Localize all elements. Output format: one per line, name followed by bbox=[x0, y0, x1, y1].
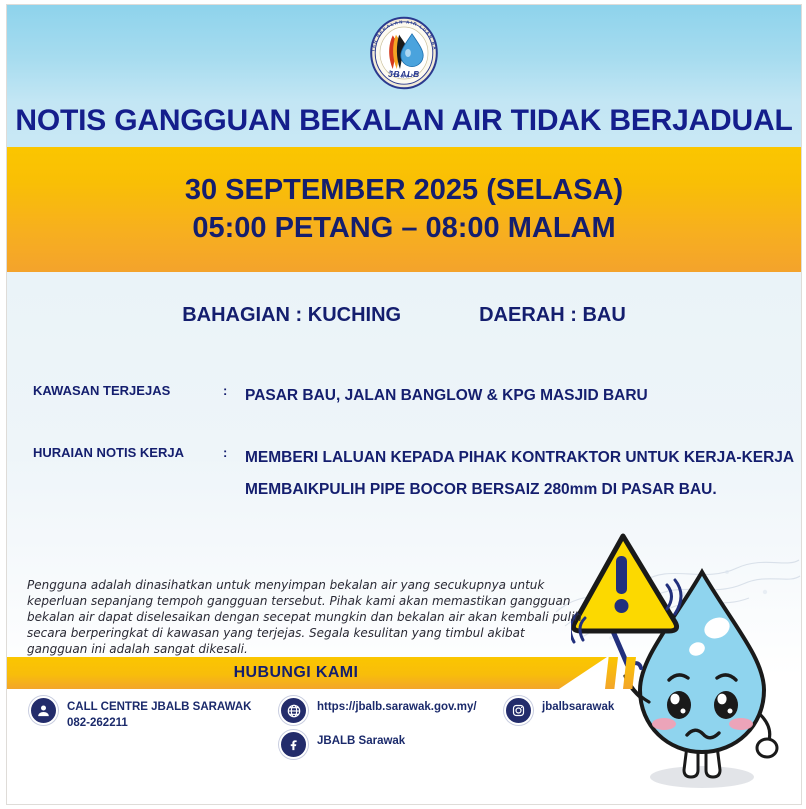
facebook-icon bbox=[279, 730, 308, 759]
contact-banner-body: HUBUNGI KAMI bbox=[7, 657, 607, 689]
call-centre-name: CALL CENTRE JBALB SARAWAK bbox=[67, 701, 251, 713]
contact-banner-title: HUBUNGI KAMI bbox=[234, 664, 381, 682]
contact-website[interactable]: https://jbalb.sarawak.gov.my/ bbox=[279, 696, 477, 725]
notice-poster: JABATAN BEKALAN AIR LUAR BANDAR SARAWAK … bbox=[0, 0, 806, 809]
instagram-icon bbox=[504, 696, 533, 725]
person-icon bbox=[29, 696, 58, 725]
kawasan-value-group: PASAR BAU, JALAN BANGLOW & KPG MASJID BA… bbox=[245, 380, 777, 412]
contact-list: CALL CENTRE JBALB SARAWAK 082-262211 htt… bbox=[7, 696, 801, 786]
instagram-handle: jbalbsarawak bbox=[542, 696, 614, 716]
notice-time: 05:00 PETANG – 08:00 MALAM bbox=[192, 212, 615, 245]
call-centre-text: CALL CENTRE JBALB SARAWAK 082-262211 bbox=[67, 696, 251, 731]
website-url: https://jbalb.sarawak.gov.my/ bbox=[317, 696, 477, 716]
contact-banner: HUBUNGI KAMI bbox=[7, 657, 655, 689]
poster-title-bar: NOTIS GANGGUAN BEKALAN AIR TIDAK BERJADU… bbox=[7, 100, 801, 142]
daerah-value: DAERAH : BAU bbox=[479, 304, 626, 327]
field-huraian-notis-kerja: HURAIAN NOTIS KERJA : MEMBERI LALUAN KEP… bbox=[33, 442, 777, 506]
banner-stripe-2 bbox=[623, 657, 636, 689]
contact-call-centre[interactable]: CALL CENTRE JBALB SARAWAK 082-262211 bbox=[29, 696, 251, 731]
logo-acronym: JBALB bbox=[388, 69, 420, 79]
kawasan-label: KAWASAN TERJEJAS bbox=[33, 380, 223, 398]
water-splash-decoration bbox=[551, 542, 801, 662]
date-time-banner: 30 SEPTEMBER 2025 (SELASA) 05:00 PETANG … bbox=[7, 147, 801, 272]
banner-stripe-1 bbox=[605, 657, 618, 689]
huraian-colon: : bbox=[223, 442, 245, 460]
huraian-line-2: MEMBAIKPULIH PIPE BOCOR BERSAIZ 280mm DI… bbox=[245, 474, 794, 506]
bahagian-value: BAHAGIAN : KUCHING bbox=[182, 304, 401, 327]
jbalb-logo: JABATAN BEKALAN AIR LUAR BANDAR SARAWAK … bbox=[364, 13, 444, 93]
page-title: NOTIS GANGGUAN BEKALAN AIR TIDAK BERJADU… bbox=[15, 104, 792, 138]
contact-instagram[interactable]: jbalbsarawak bbox=[504, 696, 614, 725]
field-kawasan-terjejas: KAWASAN TERJEJAS : PASAR BAU, JALAN BANG… bbox=[33, 380, 777, 412]
poster-body: BAHAGIAN : KUCHING DAERAH : BAU KAWASAN … bbox=[7, 272, 801, 804]
region-row: BAHAGIAN : KUCHING DAERAH : BAU bbox=[7, 304, 801, 327]
notice-date: 30 SEPTEMBER 2025 (SELASA) bbox=[185, 174, 623, 207]
globe-icon bbox=[279, 696, 308, 725]
huraian-line-1: MEMBERI LALUAN KEPADA PIHAK KONTRAKTOR U… bbox=[245, 442, 794, 474]
warning-triangle-icon bbox=[573, 536, 676, 631]
kawasan-value: PASAR BAU, JALAN BANGLOW & KPG MASJID BA… bbox=[245, 380, 777, 412]
disclaimer-text: Pengguna adalah dinasihatkan untuk menyi… bbox=[27, 578, 587, 658]
facebook-handle: JBALB Sarawak bbox=[317, 730, 405, 750]
huraian-label: HURAIAN NOTIS KERJA bbox=[33, 442, 223, 460]
huraian-value-group: MEMBERI LALUAN KEPADA PIHAK KONTRAKTOR U… bbox=[245, 442, 794, 506]
kawasan-colon: : bbox=[223, 380, 245, 398]
call-centre-phone: 082-262211 bbox=[67, 717, 128, 729]
contact-facebook[interactable]: JBALB Sarawak bbox=[279, 730, 405, 759]
